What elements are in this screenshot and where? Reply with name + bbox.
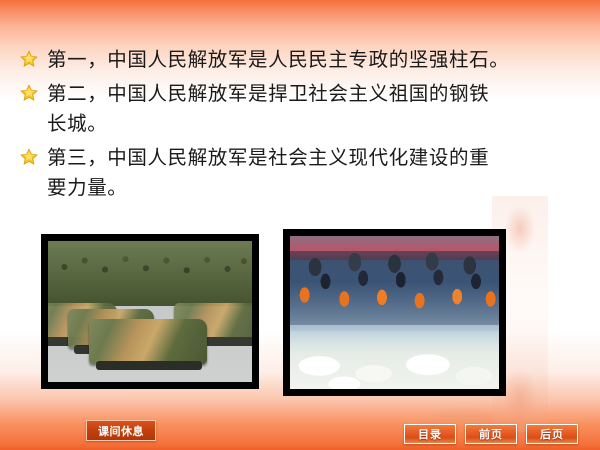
flood-rescue-photo bbox=[283, 229, 506, 396]
star-icon bbox=[20, 50, 38, 68]
bullet-list: 第一，中国人民解放军是人民民主专政的坚强柱石。 第二，中国人民解放军是捍卫社会主… bbox=[20, 46, 586, 208]
bullet-text-line-wrap: 长城。 bbox=[47, 110, 586, 140]
bullet-text-line: 第一，中国人民解放军是人民民主专政的坚强柱石。 bbox=[47, 46, 586, 76]
previous-page-button[interactable]: 前页 bbox=[465, 424, 517, 444]
presentation-slide: 第一，中国人民解放军是人民民主专政的坚强柱石。 第二，中国人民解放军是捍卫社会主… bbox=[0, 0, 600, 450]
bullet-text-line-wrap: 要力量。 bbox=[47, 174, 586, 204]
list-item: 第二，中国人民解放军是捍卫社会主义祖国的钢铁 长城。 bbox=[20, 80, 586, 140]
bullet-text-line: 第三，中国人民解放军是社会主义现代化建设的重 bbox=[47, 144, 586, 174]
military-parade-photo bbox=[41, 234, 259, 389]
list-item: 第三，中国人民解放军是社会主义现代化建设的重 要力量。 bbox=[20, 144, 586, 204]
star-icon bbox=[20, 84, 38, 102]
list-item: 第一，中国人民解放军是人民民主专政的坚强柱石。 bbox=[20, 46, 586, 76]
star-icon bbox=[20, 148, 38, 166]
next-page-button[interactable]: 后页 bbox=[526, 424, 578, 444]
contents-button[interactable]: 目录 bbox=[404, 424, 456, 444]
bullet-text-line: 第二，中国人民解放军是捍卫社会主义祖国的钢铁 bbox=[47, 80, 586, 110]
class-break-button[interactable]: 课间休息 bbox=[86, 420, 156, 441]
